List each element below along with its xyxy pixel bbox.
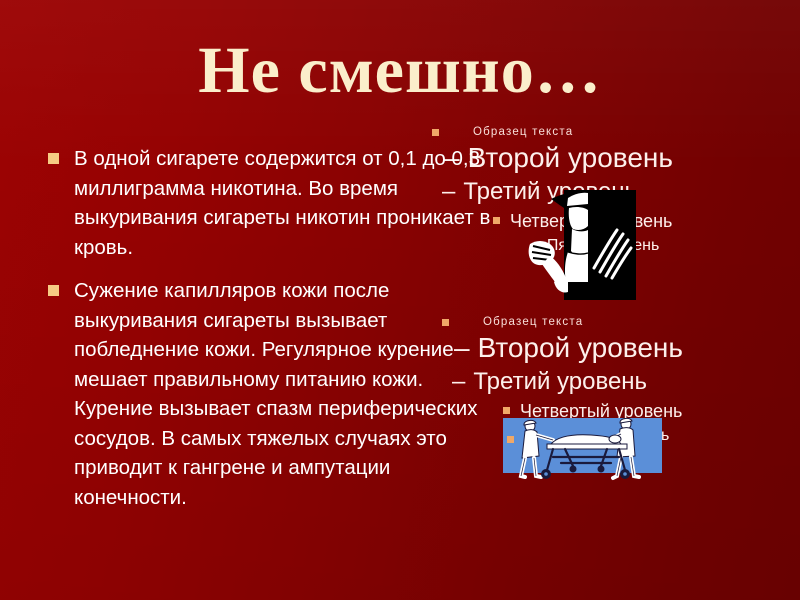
placeholder-level2-text: Второй уровень	[468, 142, 673, 173]
square-bullet-icon	[432, 129, 439, 136]
placeholder-level1-text: Образец текста	[483, 316, 583, 328]
slide-title: Не смешно…	[0, 34, 800, 108]
body-bullet-1-text: В одной сигарете содержится от 0,1 до 0,…	[74, 147, 490, 259]
body-bullet-2-text: Сужение капилляров кожи после выкуривани…	[74, 279, 477, 509]
square-bullet-icon	[503, 407, 510, 414]
smoking-man-clipart	[524, 182, 648, 300]
placeholder-level1-row: Образец текста	[428, 124, 673, 140]
square-bullet-icon	[48, 285, 59, 296]
placeholder-level3-text: Третий уровень	[473, 368, 647, 395]
body-bullet-2: Сужение капилляров кожи после выкуривани…	[44, 276, 496, 512]
placeholder-level1-text: Образец текста	[473, 126, 573, 138]
square-bullet-icon	[48, 153, 59, 164]
body-text-block: В одной сигарете содержится от 0,1 до 0,…	[44, 144, 496, 526]
body-bullet-1: В одной сигарете содержится от 0,1 до 0,…	[44, 144, 496, 262]
slide: Не смешно… В одной сигарете содержится о…	[0, 0, 800, 600]
placeholder-level2-text: Второй уровень	[478, 332, 683, 363]
paramedics-stretcher-clipart	[503, 414, 665, 490]
